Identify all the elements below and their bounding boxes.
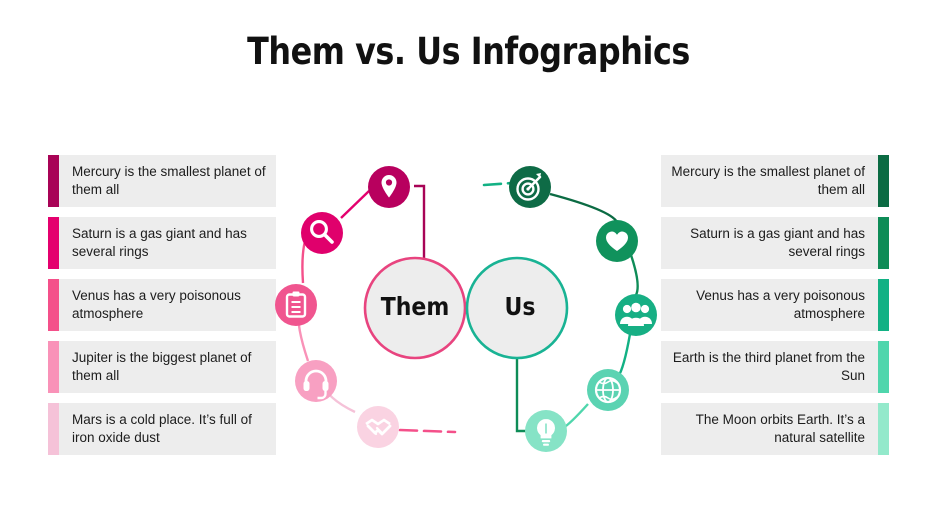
connector-circle-to-lightbulb [517, 358, 528, 431]
heart-icon[interactable] [596, 220, 638, 262]
list-item[interactable]: Mercury is the smallest planet of them a… [661, 155, 889, 207]
list-item[interactable]: Saturn is a gas giant and has several ri… [48, 217, 276, 269]
slide-canvas: Them vs. Us Infographics Mercury is the … [0, 0, 937, 527]
connector-globe-to-lightbulb [563, 404, 588, 428]
list-item-label: Saturn is a gas giant and has several ri… [669, 225, 865, 261]
list-item-label: Mercury is the smallest planet of them a… [669, 163, 865, 199]
list-item-label: Venus has a very poisonous atmosphere [669, 287, 865, 323]
list-item[interactable]: Mercury is the smallest planet of them a… [48, 155, 276, 207]
accent-bar [48, 279, 59, 331]
accent-bar [878, 155, 889, 207]
connector-heart-to-people [631, 255, 638, 295]
connector-pin-to-circle [414, 186, 424, 258]
connector-clipboard-to-search [302, 226, 312, 283]
search-icon[interactable] [301, 212, 343, 254]
list-item[interactable]: Saturn is a gas giant and has several ri… [661, 217, 889, 269]
accent-bar [48, 155, 59, 207]
list-item-label: Jupiter is the biggest planet of them al… [72, 349, 268, 385]
lightbulb-icon[interactable] [525, 410, 567, 452]
list-item[interactable]: Venus has a very poisonous atmosphere [48, 279, 276, 331]
connector-handshake-to-headset [322, 382, 355, 412]
globe-icon[interactable] [587, 369, 629, 411]
list-item[interactable]: The Moon orbits Earth. It’s a natural sa… [661, 403, 889, 455]
target-icon[interactable] [509, 166, 551, 208]
connector-target-to-heart [550, 194, 617, 222]
list-item-label: Saturn is a gas giant and has several ri… [72, 225, 268, 261]
accent-bar [878, 217, 889, 269]
accent-bar [48, 217, 59, 269]
accent-bar [878, 403, 889, 455]
list-item[interactable]: Jupiter is the biggest planet of them al… [48, 341, 276, 393]
accent-bar [48, 403, 59, 455]
list-item[interactable]: Earth is the third planet from the Sun [661, 341, 889, 393]
people-icon[interactable] [615, 294, 657, 336]
accent-bar [878, 279, 889, 331]
connector-search-to-pin [341, 191, 369, 218]
left-panel-column: Mercury is the smallest planet of them a… [48, 155, 276, 455]
list-item-label: Mercury is the smallest planet of them a… [72, 163, 268, 199]
list-item[interactable]: Venus has a very poisonous atmosphere [661, 279, 889, 331]
right-panel-column: Mercury is the smallest planet of them a… [661, 155, 889, 455]
headset-icon[interactable] [295, 360, 337, 402]
them-label: Them [371, 292, 459, 321]
list-item-label: Earth is the third planet from the Sun [669, 349, 865, 385]
connector-people-to-globe [618, 334, 630, 377]
dashed-lead-right [484, 183, 512, 185]
connector-headset-to-clipboard [298, 311, 308, 361]
list-item-label: The Moon orbits Earth. It’s a natural sa… [669, 411, 865, 447]
us-label: Us [476, 292, 564, 321]
page-title: Them vs. Us Infographics [66, 30, 872, 73]
dashed-tail-left [400, 430, 455, 432]
location-pin-icon[interactable] [368, 166, 410, 208]
accent-bar [878, 341, 889, 393]
list-item-label: Mars is a cold place. It’s full of iron … [72, 411, 268, 447]
list-item-label: Venus has a very poisonous atmosphere [72, 287, 268, 323]
accent-bar [48, 341, 59, 393]
clipboard-icon[interactable] [275, 284, 317, 326]
handshake-icon[interactable] [357, 406, 399, 448]
list-item[interactable]: Mars is a cold place. It’s full of iron … [48, 403, 276, 455]
